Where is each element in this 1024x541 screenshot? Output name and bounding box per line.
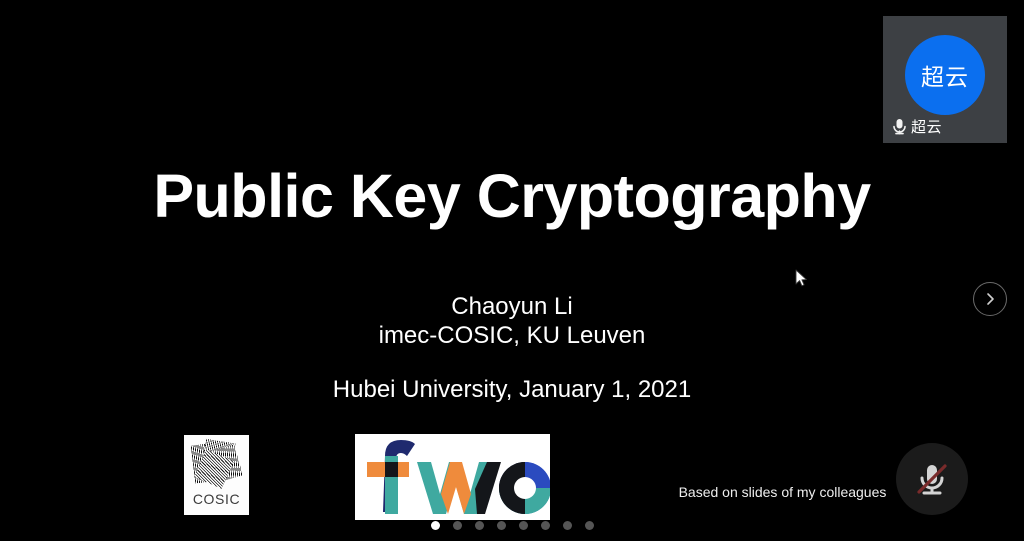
pagination-dot-4[interactable] — [497, 521, 506, 530]
author-name: Chaoyun Li — [0, 292, 1024, 321]
mouse-pointer-icon — [795, 269, 808, 288]
cosic-moire-graphic — [191, 440, 242, 488]
pagination-dot-5[interactable] — [519, 521, 528, 530]
next-slide-button[interactable] — [973, 282, 1007, 316]
slide-pagination[interactable] — [0, 521, 1024, 530]
mute-button[interactable] — [896, 443, 968, 515]
pagination-dot-6[interactable] — [541, 521, 550, 530]
microphone-icon — [891, 117, 908, 136]
pagination-dot-7[interactable] — [563, 521, 572, 530]
slide-title: Public Key Cryptography — [0, 160, 1024, 232]
avatar: 超云 — [905, 35, 985, 115]
pagination-dot-2[interactable] — [453, 521, 462, 530]
fwo-logo — [355, 434, 550, 520]
author-block: Chaoyun Li imec-COSIC, KU Leuven — [0, 292, 1024, 350]
mouse-cursor — [795, 269, 808, 288]
microphone-muted-icon — [910, 457, 954, 501]
slide-canvas[interactable]: Public Key Cryptography Chaoyun Li imec-… — [0, 0, 1024, 541]
cosic-wordmark: COSIC — [184, 491, 249, 507]
tile-footer: 超云 — [891, 116, 942, 137]
participant-name: 超云 — [911, 116, 942, 137]
cosic-logo: COSIC — [184, 435, 249, 515]
pagination-dot-3[interactable] — [475, 521, 484, 530]
venue-date-line: Hubei University, January 1, 2021 — [0, 376, 1024, 404]
presentation-screen: Public Key Cryptography Chaoyun Li imec-… — [0, 0, 1024, 541]
self-video-tile[interactable]: 超云 超云 — [883, 16, 1007, 143]
fwo-wordmark-graphic — [355, 434, 550, 520]
pagination-dot-1[interactable] — [431, 521, 440, 530]
pagination-dot-8[interactable] — [585, 521, 594, 530]
author-affiliation: imec-COSIC, KU Leuven — [0, 321, 1024, 350]
chevron-right-icon — [983, 292, 997, 306]
